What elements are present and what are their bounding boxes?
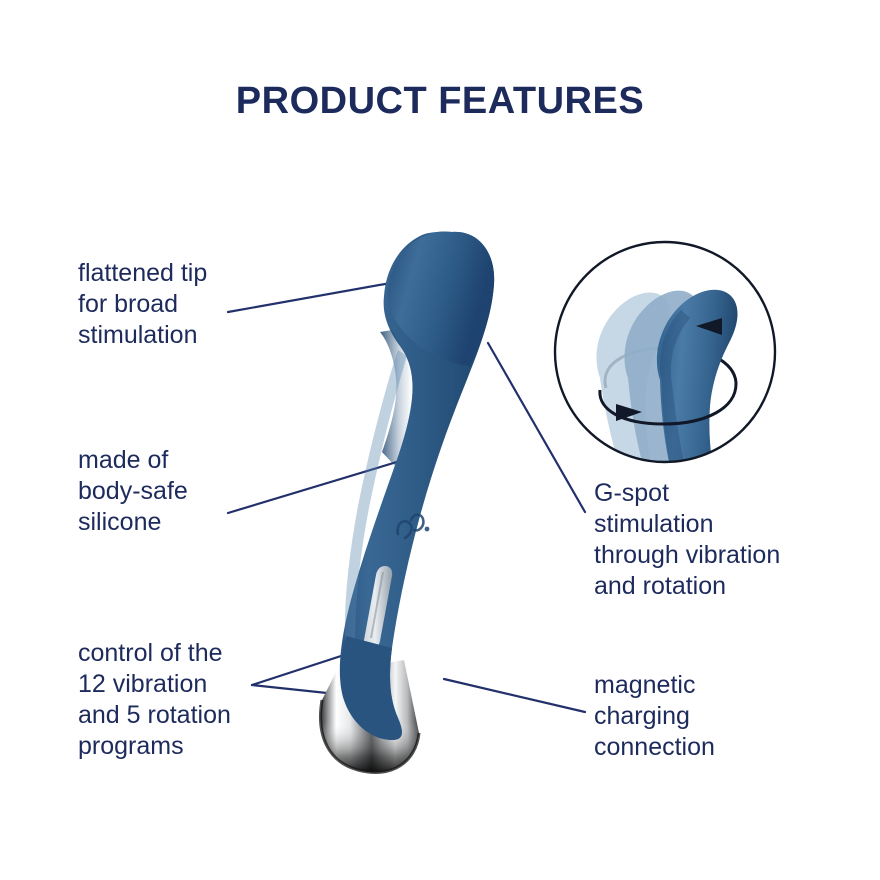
leader-line-magnetic xyxy=(444,679,585,712)
callout-magnetic: magnetic charging connection xyxy=(594,670,824,763)
product-features-infographic: PRODUCT FEATURES xyxy=(0,0,880,880)
callout-body-safe: made of body-safe silicone xyxy=(78,445,318,538)
rotation-detail-circle xyxy=(555,242,775,492)
product-body xyxy=(321,231,495,772)
callout-gspot: G-spot stimulation through vibration and… xyxy=(594,478,844,602)
callout-flattened-tip: flattened tip for broad stimulation xyxy=(78,258,318,351)
callout-controls: control of the 12 vibration and 5 rotati… xyxy=(78,638,338,762)
leader-line-gspot xyxy=(488,343,585,512)
